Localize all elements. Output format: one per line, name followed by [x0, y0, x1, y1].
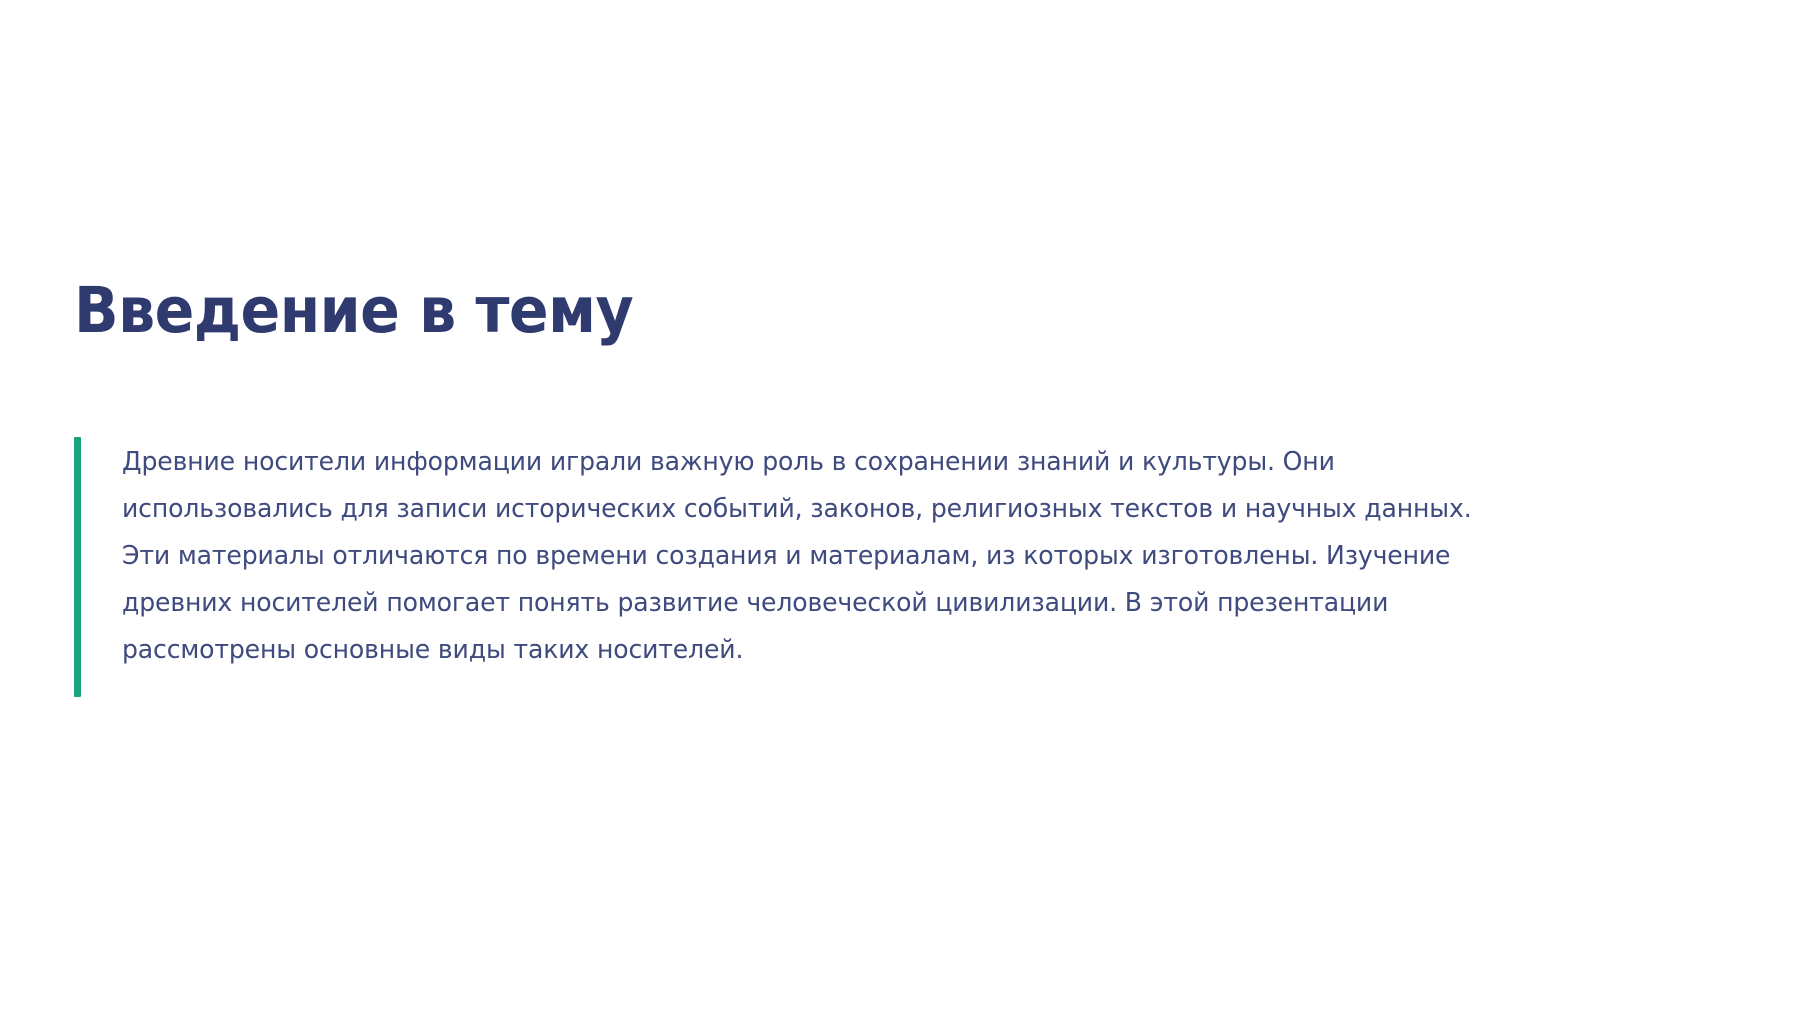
accent-bar: [74, 437, 81, 697]
page-title: Введение в тему: [74, 277, 633, 345]
body-text-container: Древние носители информации играли важну…: [81, 437, 1494, 697]
presentation-slide: Введение в тему Древние носители информа…: [0, 0, 1800, 1013]
body-content-block: Древние носители информации играли важну…: [74, 437, 1494, 697]
body-paragraph: Древние носители информации играли важну…: [122, 439, 1473, 674]
